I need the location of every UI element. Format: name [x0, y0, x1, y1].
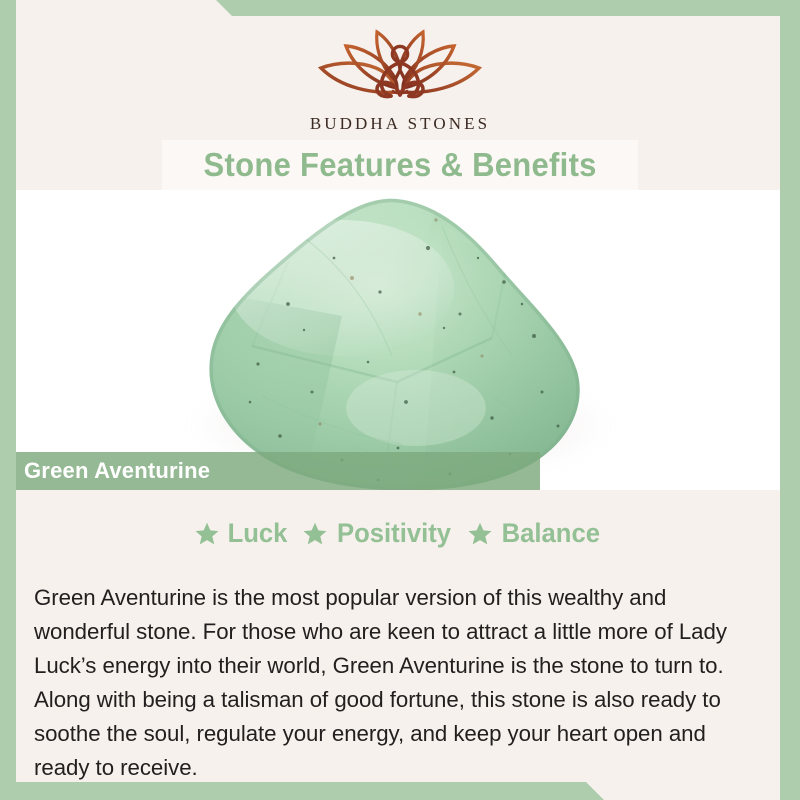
benefit-label: Balance	[501, 518, 599, 549]
star-icon	[302, 521, 328, 547]
benefit-item: Luck	[194, 518, 289, 549]
benefit-item: Positivity	[302, 518, 454, 549]
star-icon	[194, 521, 220, 547]
lotus-meditation-icon	[315, 18, 485, 110]
page-title: Stone Features & Benefits	[203, 146, 596, 184]
benefit-label: Positivity	[337, 518, 451, 549]
frame-top-bar	[0, 0, 800, 16]
benefit-label: Luck	[227, 518, 287, 549]
section-title-band: Stone Features & Benefits	[162, 140, 638, 190]
frame-bottom-bar	[0, 782, 800, 800]
brand-name: BUDDHA STONES	[310, 114, 490, 134]
product-label: Green Aventurine	[24, 458, 210, 484]
green-aventurine-stone-icon	[192, 196, 600, 490]
product-image	[16, 190, 780, 490]
infographic-page: BUDDHA STONES Stone Features & Benefits	[0, 0, 800, 800]
status-badge: Green Aventurine	[16, 452, 540, 490]
benefit-item: Balance	[467, 518, 603, 549]
brand-logo: BUDDHA STONES	[0, 18, 800, 134]
star-icon	[467, 521, 493, 547]
description-text: Green Aventurine is the most popular ver…	[34, 581, 767, 785]
benefits-row: Luck Positivity Balance	[16, 518, 780, 549]
